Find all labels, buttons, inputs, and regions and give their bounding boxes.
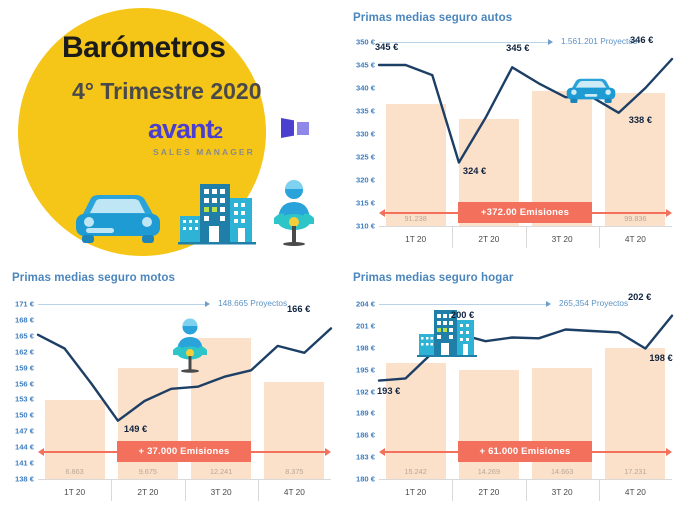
- chart-autos: Primas medias seguro autos 310 €315 €320…: [345, 12, 680, 268]
- buildings-illustration: [178, 182, 256, 246]
- data-point-label: 345 €: [506, 43, 529, 53]
- motorbike-icon: [170, 317, 210, 378]
- motorbike-illustration: [270, 178, 318, 246]
- chart-motos: Primas medias seguro motos 138 €141 €144…: [4, 272, 339, 521]
- hero-panel: Barómetros 4° Trimestre 2020 avant2 SALE…: [0, 0, 340, 268]
- barometros-infographic: Barómetros 4° Trimestre 2020 avant2 SALE…: [0, 0, 680, 521]
- data-point-label: 345 €: [375, 42, 398, 52]
- chart-autos-plot: 310 €315 €320 €325 €330 €335 €340 €345 €…: [345, 12, 680, 268]
- logo-mark-icon: [281, 118, 311, 138]
- data-point-label: 166 €: [287, 304, 310, 314]
- car-illustration: [72, 186, 164, 246]
- data-point-label: 149 €: [124, 424, 147, 434]
- chart-motos-plot: 138 €141 €144 €147 €150 €153 €156 €159 €…: [4, 272, 339, 521]
- primas-line-series: [345, 272, 680, 521]
- data-point-label: 198 €: [649, 353, 672, 363]
- data-point-label: 338 €: [629, 115, 652, 125]
- chart-hogar-plot: 180 €183 €186 €189 €192 €195 €198 €201 €…: [345, 272, 680, 521]
- avant2-logo: avant2 SALES MANAGER: [148, 116, 313, 158]
- data-point-label: 346 €: [630, 35, 653, 45]
- data-point-label: 200 €: [451, 310, 474, 320]
- page-subtitle: 4° Trimestre 2020: [72, 80, 317, 103]
- data-point-label: 202 €: [628, 292, 651, 302]
- logo-word-suffix: 2: [214, 123, 222, 142]
- logo-word-text: avant: [148, 114, 214, 144]
- page-title: Barómetros: [62, 33, 302, 63]
- logo-tagline: SALES MANAGER: [153, 147, 255, 157]
- car-icon: [564, 74, 618, 110]
- chart-hogar: Primas medias seguro hogar 180 €183 €186…: [345, 272, 680, 521]
- data-point-label: 193 €: [377, 386, 400, 396]
- data-point-label: 324 €: [463, 166, 486, 176]
